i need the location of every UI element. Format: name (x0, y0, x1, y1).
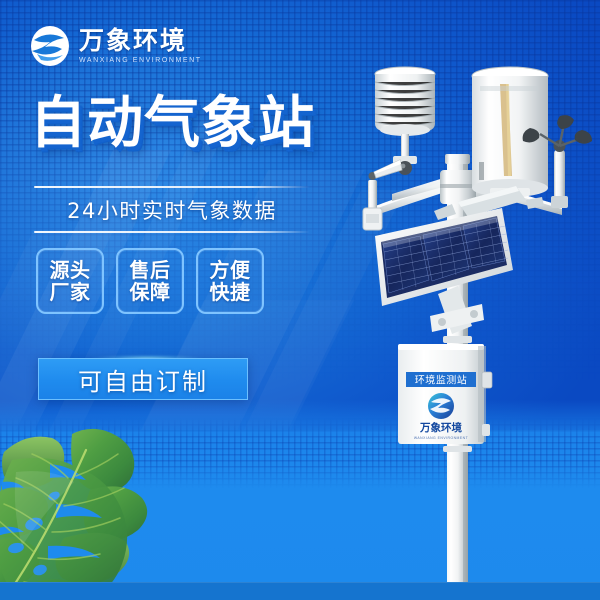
badge-line-2: 厂家 (50, 281, 91, 303)
control-box-icon: 环境监测站 万象环境 WANXIANG ENVIRONMENT (398, 344, 492, 444)
badge-line-1: 源头 (50, 259, 91, 281)
feature-badge-source-factory[interactable]: 源头 厂家 (36, 248, 104, 314)
enclosure-label-text: 环境监测站 (415, 374, 468, 387)
pole-collar (443, 336, 472, 343)
page-subtitle: 24小时实时气象数据 (34, 188, 310, 231)
footer-strip (0, 582, 600, 600)
promo-banner: 环境监测站 万象环境 WANXIANG ENVIRONMENT (0, 0, 600, 600)
pole-collar (443, 446, 472, 452)
badge-line-2: 快捷 (210, 281, 251, 303)
cta-label: 可自由订制 (78, 362, 208, 397)
feature-badge-convenient[interactable]: 方便 快捷 (196, 248, 264, 314)
enclosure-brand-en-text: WANXIANG ENVIRONMENT (414, 436, 468, 440)
monstera-leaf-icon (0, 412, 204, 600)
badge-line-2: 保障 (130, 281, 171, 303)
solar-panel-icon (375, 208, 513, 334)
weather-station-image: 环境监测站 万象环境 WANXIANG ENVIRONMENT (330, 54, 600, 600)
brand-logo: 万象环境 WANXIANG ENVIRONMENT (28, 24, 202, 68)
badge-line-1: 方便 (210, 259, 251, 281)
divider-bottom (34, 231, 310, 233)
globe-swoosh-logo-icon (28, 24, 72, 68)
badge-line-1: 售后 (130, 259, 171, 281)
page-title: 自动气象站 (30, 96, 315, 152)
feature-badge-after-sales[interactable]: 售后 保障 (116, 248, 184, 314)
brand-name-cn: 万象环境 (79, 28, 202, 53)
feature-badge-list: 源头 厂家 售后 保障 方便 快捷 (36, 248, 264, 314)
customize-cta-button[interactable]: 可自由订制 (38, 358, 248, 400)
radiation-shield-icon (375, 67, 435, 175)
subtitle-block: 24小时实时气象数据 (34, 186, 310, 233)
brand-name-en: WANXIANG ENVIRONMENT (79, 57, 202, 64)
enclosure-brand-cn-text: 万象环境 (419, 421, 462, 434)
